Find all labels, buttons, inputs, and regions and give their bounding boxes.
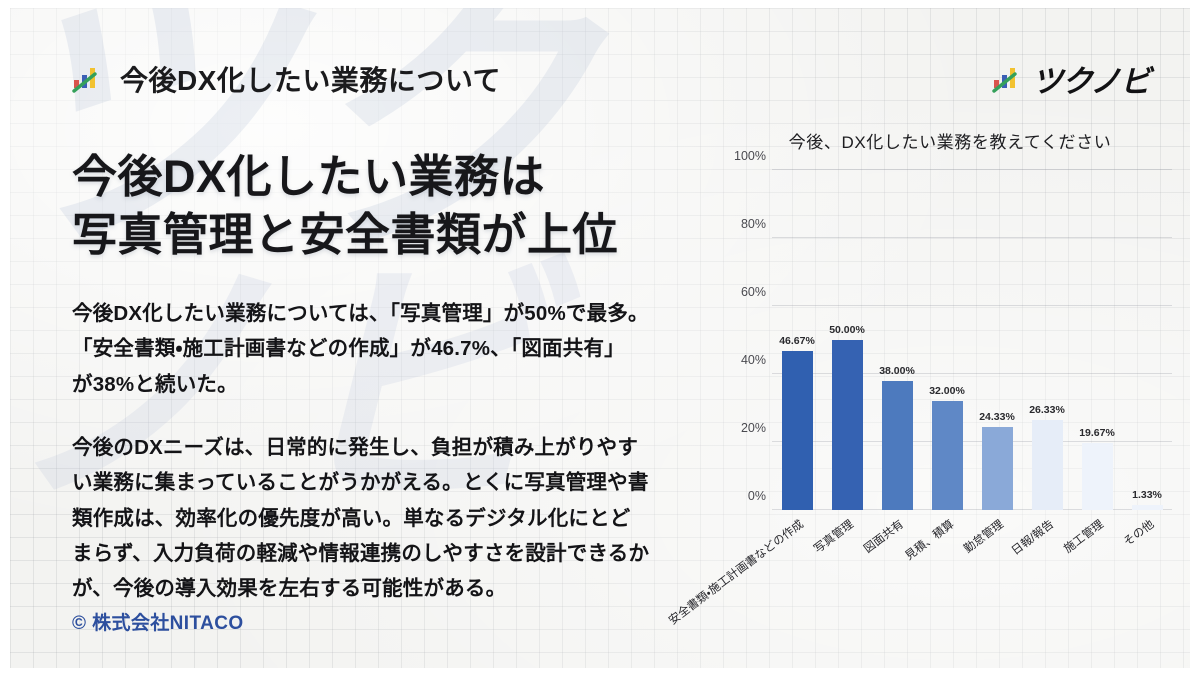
y-axis-tick-label: 20% [741, 421, 766, 435]
x-axis-label-slot: その他 [1122, 514, 1172, 664]
chart-bar-slot: 32.00% [922, 170, 972, 510]
chart-bar[interactable]: 50.00% [832, 340, 863, 510]
slide-root: ツク ノビ 今後DX化したい業務について [0, 0, 1200, 677]
header-bar: 今後DX化したい業務について [72, 56, 1150, 102]
chart-bar-slot: 38.00% [872, 170, 922, 510]
body-paragraph-2: 今後のDXニーズは、日常的に発生し、負担が積み上がりやす い業務に集まっているこ… [72, 430, 732, 606]
y-axis-tick-label: 0% [748, 489, 766, 503]
headline: 今後DX化したい業務は 写真管理と安全書類が上位 [72, 148, 732, 263]
bar-chart-logo-icon [72, 64, 102, 94]
brand-name: ツクノビ [1032, 56, 1150, 101]
bar-chart-logo-icon [992, 64, 1022, 94]
chart-bar[interactable]: 1.33% [1132, 505, 1163, 510]
chart-bars: 46.67%50.00%38.00%32.00%24.33%26.33%19.6… [772, 170, 1172, 510]
x-axis-label-slot: 安全書類・施工計画書などの作成 [772, 514, 822, 664]
header-kicker-title: 今後DX化したい業務について [120, 59, 501, 99]
body-paragraph-1: 今後DX化したい業務については、「写真管理」が50%で最多。 「安全書類・施工計… [72, 296, 732, 402]
chart-bar[interactable]: 19.67% [1082, 443, 1113, 510]
paragraph-2-line-4: まらず、入力負荷の軽減や情報連携のしやすさを設計できるか [72, 536, 732, 571]
slide-card: ツク ノビ 今後DX化したい業務について [10, 8, 1190, 668]
paragraph-1-line-3: が38%と続いた。 [72, 367, 732, 402]
chart-bar-value-label: 19.67% [1079, 427, 1115, 439]
y-axis: 0%20%40%60%80%100% [712, 170, 766, 510]
chart-bar-value-label: 26.33% [1029, 404, 1065, 416]
x-axis-label-slot: 施工管理 [1072, 514, 1122, 664]
chart-bar-slot: 19.67% [1072, 170, 1122, 510]
headline-line-1: 今後DX化したい業務は [72, 148, 732, 206]
chart-bar-value-label: 46.67% [779, 335, 815, 347]
x-axis-labels: 安全書類・施工計画書などの作成写真管理図面共有見積、積算勤怠管理日報/報告施工管… [772, 514, 1172, 664]
paragraph-2-line-3: 類作成は、効率化の優先度が高い。単なるデジタル化にとど [72, 501, 732, 536]
slide-content: 今後DX化したい業務について ツクノビ 今後DX化したい業務は 写真管理と安全書… [10, 8, 1190, 668]
chart-bar-slot: 24.33% [972, 170, 1022, 510]
paragraph-2-line-1: 今後のDXニーズは、日常的に発生し、負担が積み上がりやす [72, 430, 732, 465]
chart-bar-value-label: 32.00% [929, 385, 965, 397]
y-axis-tick-label: 80% [741, 217, 766, 231]
chart-bar-slot: 50.00% [822, 170, 872, 510]
chart-bar[interactable]: 24.33% [982, 427, 1013, 510]
bar-chart: 今後、DX化したい業務を教えてください 0%20%40%60%80%100% 4… [710, 118, 1190, 658]
y-axis-tick-label: 100% [734, 149, 766, 163]
x-axis-label-slot: 図面共有 [872, 514, 922, 664]
chart-bar-slot: 46.67% [772, 170, 822, 510]
chart-bar-slot: 26.33% [1022, 170, 1072, 510]
chart-bar-value-label: 50.00% [829, 324, 865, 336]
y-axis-tick-label: 40% [741, 353, 766, 367]
chart-bar[interactable]: 46.67% [782, 351, 813, 510]
chart-title: 今後、DX化したい業務を教えてください [710, 128, 1190, 153]
chart-bar-slot: 1.33% [1122, 170, 1172, 510]
chart-bar[interactable]: 32.00% [932, 401, 963, 510]
chart-bar[interactable]: 38.00% [882, 381, 913, 510]
x-axis-label-slot: 日報/報告 [1022, 514, 1072, 664]
paragraph-1-line-2: 「安全書類・施工計画書などの作成」が46.7%、「図面共有」 [72, 331, 732, 366]
copyright-notice: © 株式会社NITACO [72, 608, 244, 635]
chart-bar-value-label: 1.33% [1132, 489, 1162, 501]
paragraph-1-line-1: 今後DX化したい業務については、「写真管理」が50%で最多。 [72, 296, 732, 331]
headline-line-2: 写真管理と安全書類が上位 [72, 206, 732, 264]
x-axis-label-slot: 見積、積算 [922, 514, 972, 664]
chart-bar-value-label: 24.33% [979, 411, 1015, 423]
brand-lockup[interactable]: ツクノビ [992, 56, 1150, 101]
x-axis-label-slot: 写真管理 [822, 514, 872, 664]
y-axis-tick-label: 60% [741, 285, 766, 299]
paragraph-2-line-2: い業務に集まっていることがうかがえる。とくに写真管理や書 [72, 465, 732, 500]
chart-bar[interactable]: 26.33% [1032, 420, 1063, 510]
chart-bar-value-label: 38.00% [879, 365, 915, 377]
x-axis-label-slot: 勤怠管理 [972, 514, 1022, 664]
chart-plot-area: 0%20%40%60%80%100% 46.67%50.00%38.00%32.… [772, 170, 1172, 510]
paragraph-2-line-5: が、今後の導入効果を左右する可能性がある。 [72, 571, 732, 606]
x-axis-category-label: その他 [1119, 516, 1156, 550]
